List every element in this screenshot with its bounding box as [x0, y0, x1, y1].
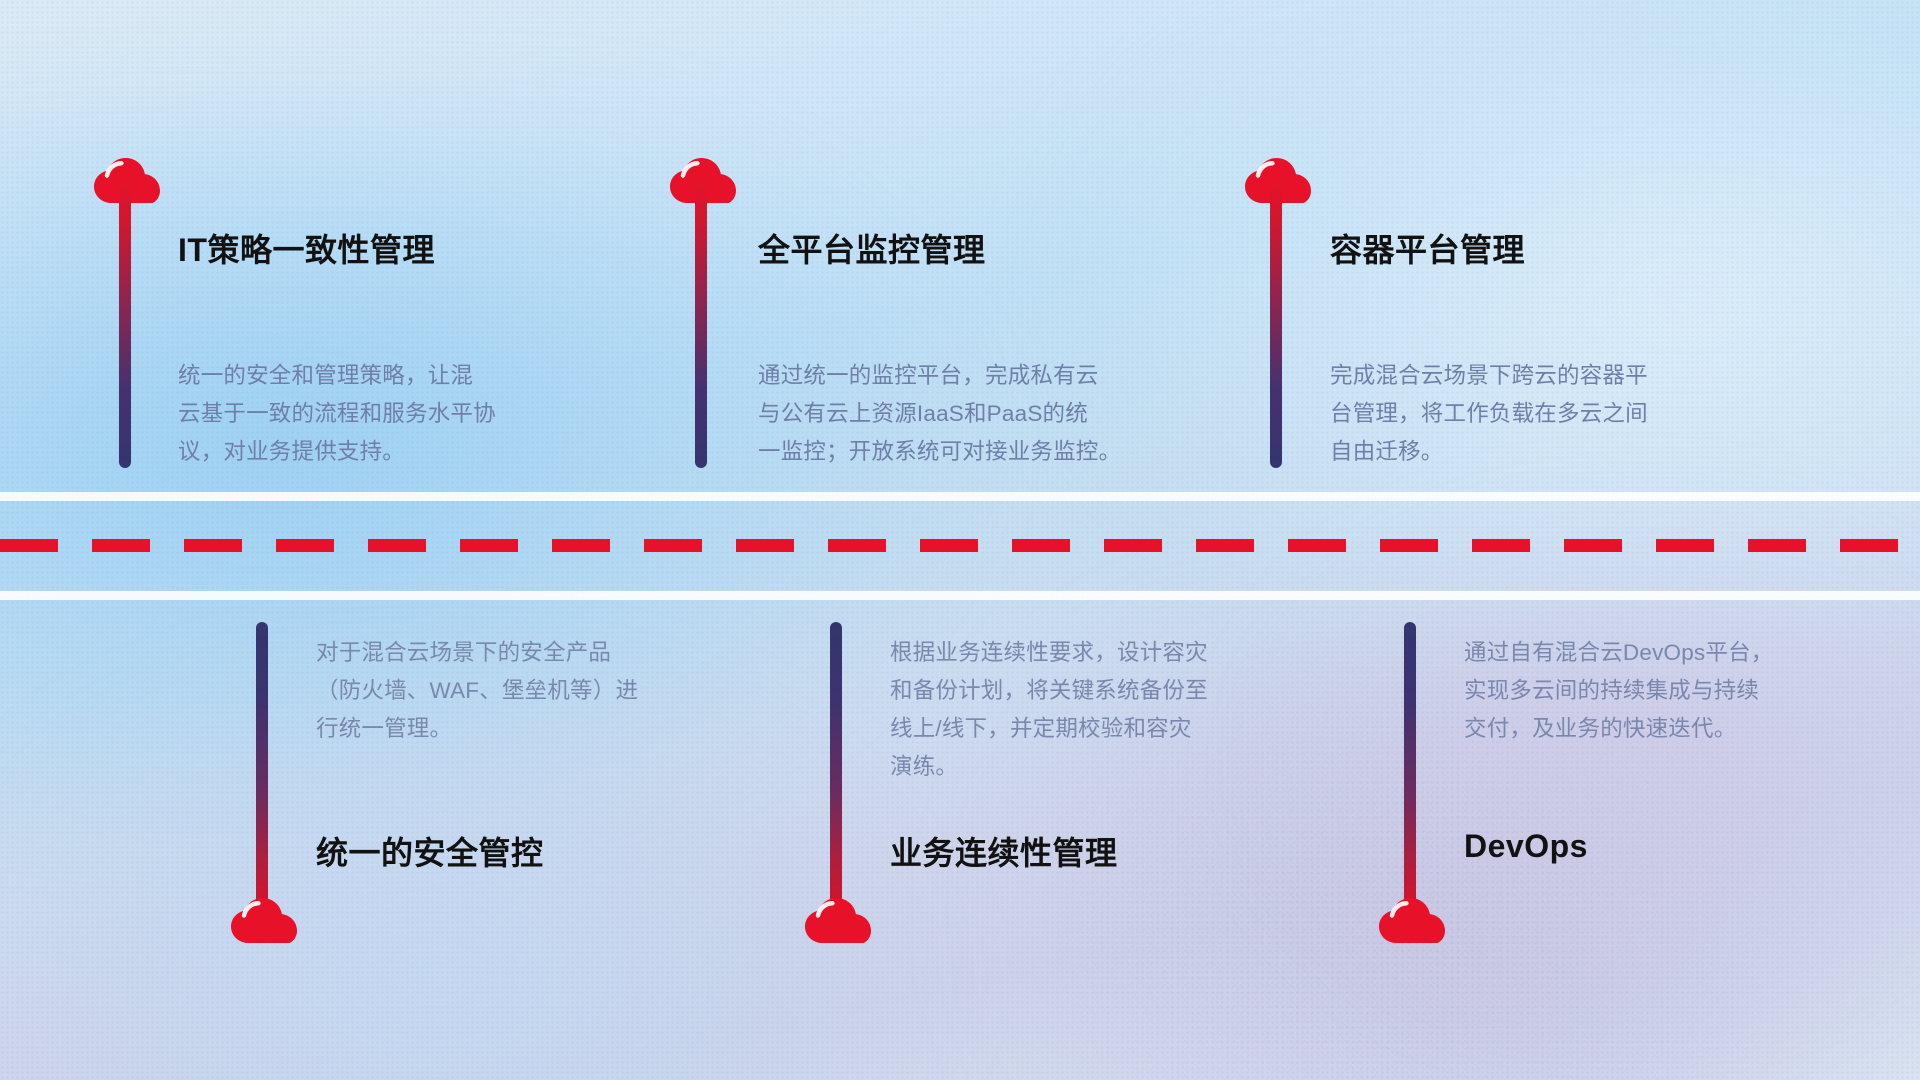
body-business-continuity: 根据业务连续性要求，设计容灾 和备份计划，将关键系统备份至 线上/线下，并定期校…	[890, 634, 1330, 786]
heading-monitoring: 全平台监控管理	[758, 225, 986, 271]
divider-dashed-red	[0, 539, 1920, 552]
heading-security: 统一的安全管控	[316, 828, 544, 874]
section-divider	[0, 492, 1920, 600]
connector-stem	[256, 622, 268, 916]
connector-stem	[830, 622, 842, 916]
cloud-icon	[805, 898, 871, 944]
cloud-icon	[231, 898, 297, 944]
connector-stem	[695, 182, 707, 468]
body-devops: 通过自有混合云DevOps平台， 实现多云间的持续集成与持续 交付，及业务的快速…	[1464, 634, 1894, 748]
body-monitoring: 通过统一的监控平台，完成私有云 与公有云上资源IaaS和PaaS的统 一监控；开…	[758, 357, 1218, 471]
body-container-platform: 完成混合云场景下跨云的容器平 台管理，将工作负载在多云之间 自由迁移。	[1330, 357, 1780, 471]
connector-stem	[1270, 182, 1282, 468]
heading-container-platform: 容器平台管理	[1330, 225, 1525, 271]
heading-devops: DevOps	[1464, 828, 1588, 865]
connector-stem	[1404, 622, 1416, 916]
connector-stem	[119, 182, 131, 468]
heading-business-continuity: 业务连续性管理	[890, 828, 1118, 874]
body-security: 对于混合云场景下的安全产品 （防火墙、WAF、堡垒机等）进 行统一管理。	[316, 634, 746, 748]
cloud-icon	[1379, 898, 1445, 944]
divider-line-top	[0, 492, 1920, 501]
divider-line-bottom	[0, 591, 1920, 600]
body-it-policy: 统一的安全和管理策略，让混 云基于一致的流程和服务水平协 议，对业务提供支持。	[178, 357, 608, 471]
heading-it-policy: IT策略一致性管理	[178, 225, 435, 271]
